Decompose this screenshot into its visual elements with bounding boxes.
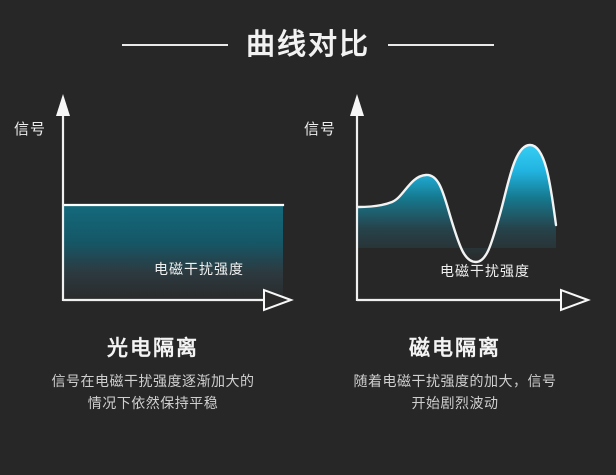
signal-area-fill bbox=[64, 206, 283, 301]
caption-magnetic-isolation: 磁电隔离 随着电磁干扰强度的加大，信号开始剧烈波动 bbox=[310, 336, 600, 415]
x-axis-arrow-icon bbox=[561, 290, 588, 310]
caption-body: 信号在电磁干扰强度逐渐加大的情况下依然保持平稳 bbox=[46, 371, 261, 414]
x-axis-label: 电磁干扰强度 bbox=[154, 262, 244, 276]
page-title: 曲线对比 bbox=[0, 22, 616, 68]
y-axis-arrow-icon bbox=[56, 94, 70, 116]
y-axis-arrow-icon bbox=[350, 94, 364, 116]
caption-title: 光电隔离 bbox=[8, 336, 298, 361]
x-axis-label: 电磁干扰强度 bbox=[440, 264, 530, 278]
chart-optical-isolation: 信号 电磁干扰强度 bbox=[6, 92, 296, 317]
chart-optical-isolation-svg bbox=[6, 92, 296, 317]
page-title-text: 曲线对比 bbox=[246, 31, 370, 60]
caption-title: 磁电隔离 bbox=[310, 336, 600, 361]
title-rule-right-icon bbox=[388, 44, 494, 46]
y-axis-label: 信号 bbox=[14, 122, 46, 137]
poster-stage: 曲线对比 信号 电磁干扰强度 bbox=[0, 0, 616, 475]
title-rule-left-icon bbox=[122, 44, 228, 46]
caption-body: 随着电磁干扰强度的加大，信号开始剧烈波动 bbox=[348, 371, 563, 414]
chart-magnetic-isolation: 信号 电磁干扰强度 bbox=[300, 92, 590, 317]
y-axis-label: 信号 bbox=[304, 122, 336, 137]
caption-optical-isolation: 光电隔离 信号在电磁干扰强度逐渐加大的情况下依然保持平稳 bbox=[8, 336, 298, 415]
chart-magnetic-isolation-svg bbox=[300, 92, 590, 317]
